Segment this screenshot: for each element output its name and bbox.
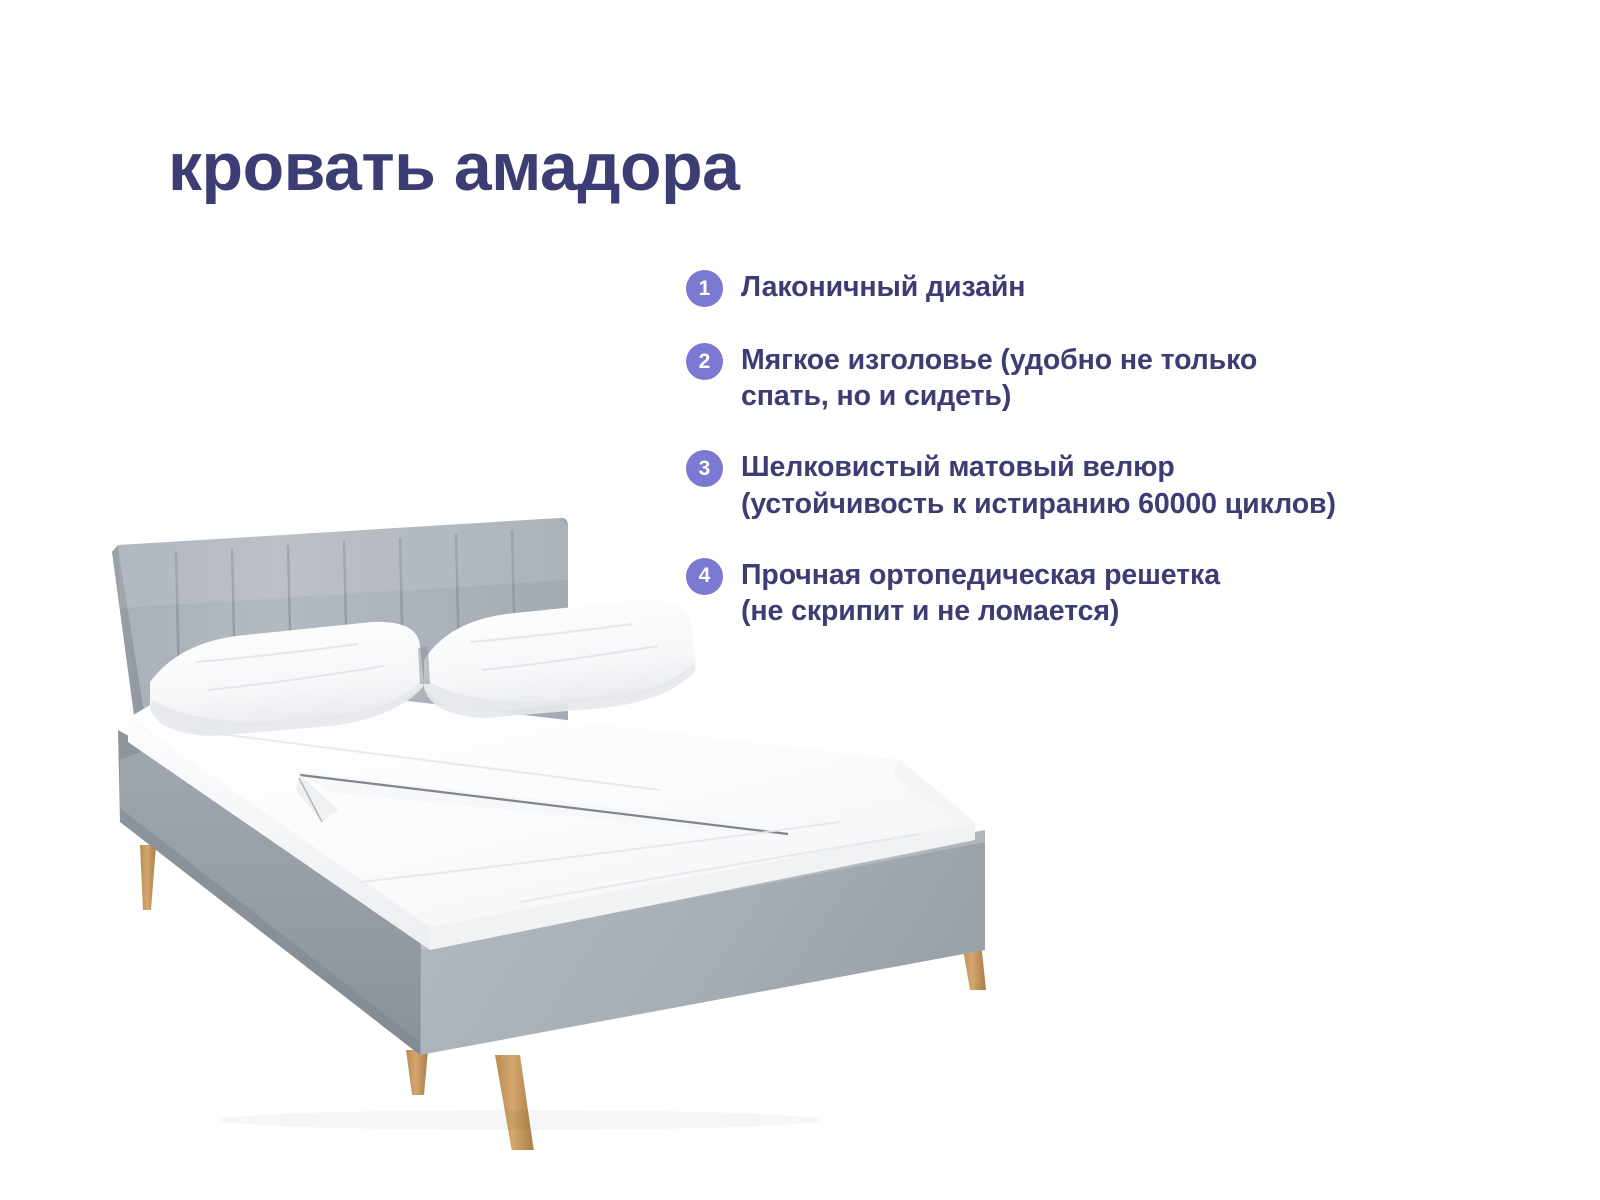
poster-canvas: кровать амадора 1 Лаконичный дизайн 2 Мя… [0,0,1600,1200]
page-title: кровать амадора [168,133,739,201]
feature-badge-2: 2 [686,343,723,380]
bed-illustration [0,430,1120,1150]
feature-badge-1: 1 [686,270,723,307]
feature-text-1: Лаконичный дизайн [741,268,1025,305]
feature-item-2: 2 Мягкое изголовье (удобно не только спа… [686,341,1506,414]
floor-shadow [220,1110,820,1130]
product-image-bed [0,430,1120,1150]
feature-text-2: Мягкое изголовье (удобно не только спать… [741,341,1257,414]
feature-item-1: 1 Лаконичный дизайн [686,268,1506,307]
